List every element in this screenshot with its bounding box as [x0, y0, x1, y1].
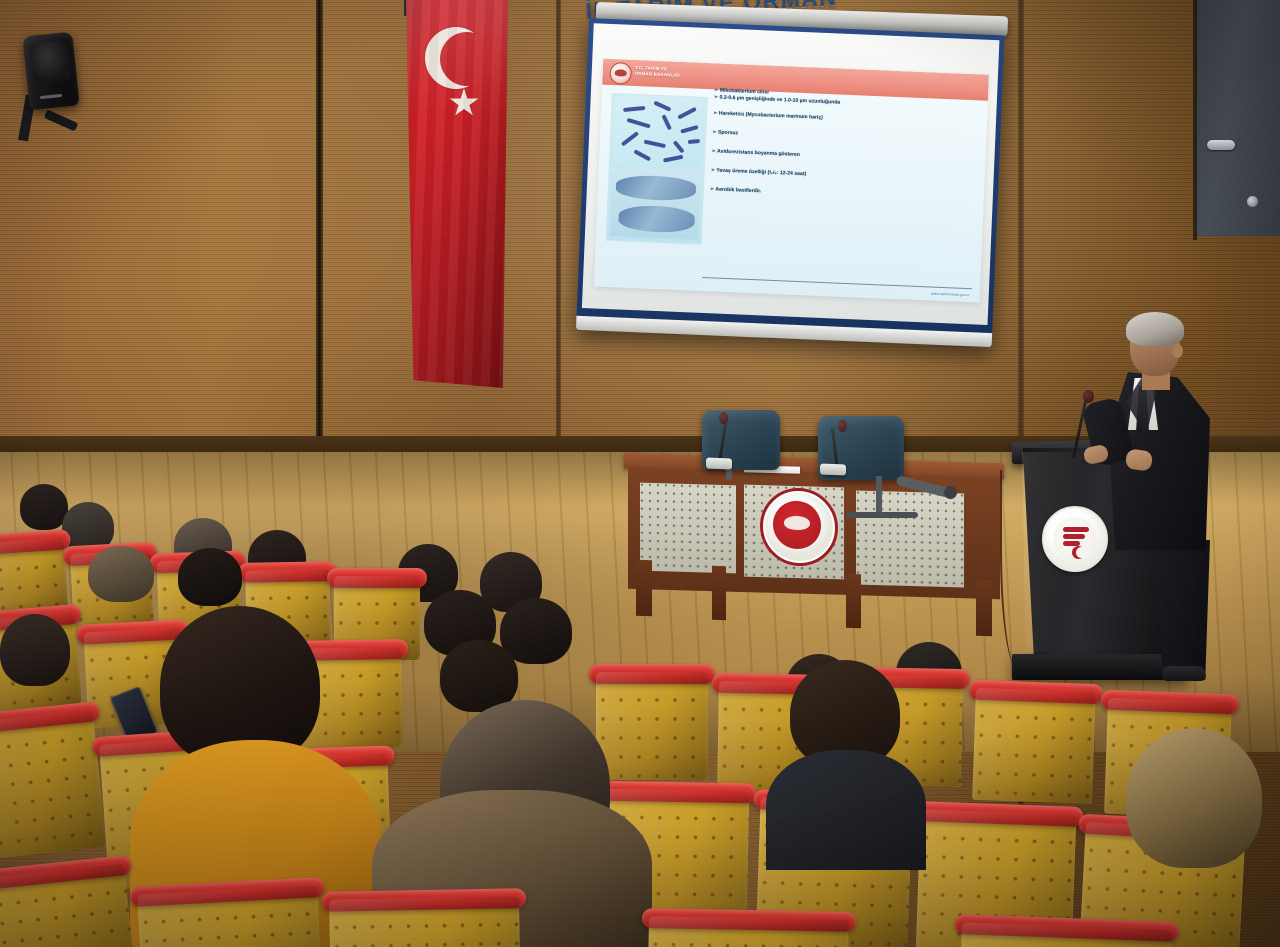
turkish-flag [404, 0, 508, 388]
bullet-marker-icon: ➢ [711, 148, 716, 154]
flag-shading [404, 0, 508, 388]
slide-bullet-list: ➢ Mikobakterium cinsi ➢ 0.2-0.6 µm geniş… [706, 87, 982, 288]
slide-microscopy-image [606, 93, 708, 245]
presentation-slide: T.C. TARIM VE ORMAN BAKANLIĞI TÜRKİYE YÜ… [594, 59, 989, 303]
presenter-shoe [1162, 666, 1206, 681]
door-frame [1193, 0, 1197, 240]
slide-bullet: ➢ Sporsuz [712, 129, 980, 147]
bullet-marker-icon: ➢ [712, 129, 717, 135]
podium-crescent-icon [1072, 546, 1085, 559]
slide-bullet: ➢ Asidorezistans boyanma gösteren [711, 148, 979, 166]
bacilli-micrograph [613, 96, 704, 168]
table-emblem-inner [773, 500, 821, 549]
bullet-marker-icon: ➢ [713, 110, 718, 116]
table-leg [846, 574, 861, 629]
auditorium-seat[interactable] [972, 688, 1096, 804]
podium-emblem-icon [1042, 506, 1108, 572]
tissue-micrograph [610, 168, 701, 240]
bullet-marker-icon: ➢ [714, 94, 719, 100]
bullet-marker-icon: ➢ [710, 186, 715, 192]
audience-person [88, 546, 154, 602]
slide-footer: www.tarimorman.gov.tr [931, 292, 970, 298]
presenter-ear [1172, 344, 1183, 358]
podium-emblem-inner [1053, 517, 1097, 561]
auditorium-seat[interactable] [0, 863, 135, 947]
audience-person-foreground [1126, 728, 1262, 868]
door-handle-icon[interactable] [1207, 140, 1235, 150]
auditorium-seat[interactable] [0, 710, 107, 861]
bullet-marker-icon: ➢ [714, 87, 719, 93]
auditorium-seat[interactable] [137, 885, 323, 947]
auditorium-seat[interactable] [329, 896, 521, 947]
audience-person [20, 484, 68, 530]
slide-bullet: ➢ Hareketsiz (Mycobacterium marinum hari… [713, 110, 981, 128]
table-perforated-panel [856, 490, 964, 587]
speaker-grill-icon [30, 40, 72, 84]
table-perforated-panel [640, 483, 736, 574]
auditorium-seat[interactable] [596, 672, 708, 780]
chair-caster [944, 486, 957, 499]
ministry-logo-line2: ORMAN BAKANLIĞI [635, 71, 680, 79]
presenter-hair [1126, 312, 1184, 346]
slide-bullet: ➢ Aerobik basillerdir. [710, 186, 978, 204]
ministry-logo-text: T.C. TARIM VE ORMAN BAKANLIĞI [635, 65, 681, 79]
door-lock-icon[interactable] [1247, 196, 1258, 207]
podium-microphone-head[interactable] [1083, 390, 1094, 403]
auditorium-photo: İL TARIM VE ORMAN T.C. TARIM VE ORMAN BA… [0, 0, 1280, 947]
bullet-marker-icon: ➢ [711, 167, 716, 173]
table-leg [712, 566, 726, 620]
hall-door[interactable] [1196, 0, 1280, 236]
audience-shoulders [766, 750, 926, 870]
table-leg [976, 580, 992, 637]
audience-person [0, 614, 70, 686]
auditorium-seat[interactable] [958, 922, 1172, 947]
table-leg [636, 560, 652, 617]
audience-person [178, 548, 242, 606]
slide-bullet: ➢ Yavaş üreme özelliği (t₁/₂: 12-24 saat… [711, 167, 979, 185]
auditorium-seat[interactable] [647, 916, 849, 947]
ministry-logo-icon [609, 62, 632, 85]
projection-screen: T.C. TARIM VE ORMAN BAKANLIĞI TÜRKİYE YÜ… [576, 18, 1005, 347]
